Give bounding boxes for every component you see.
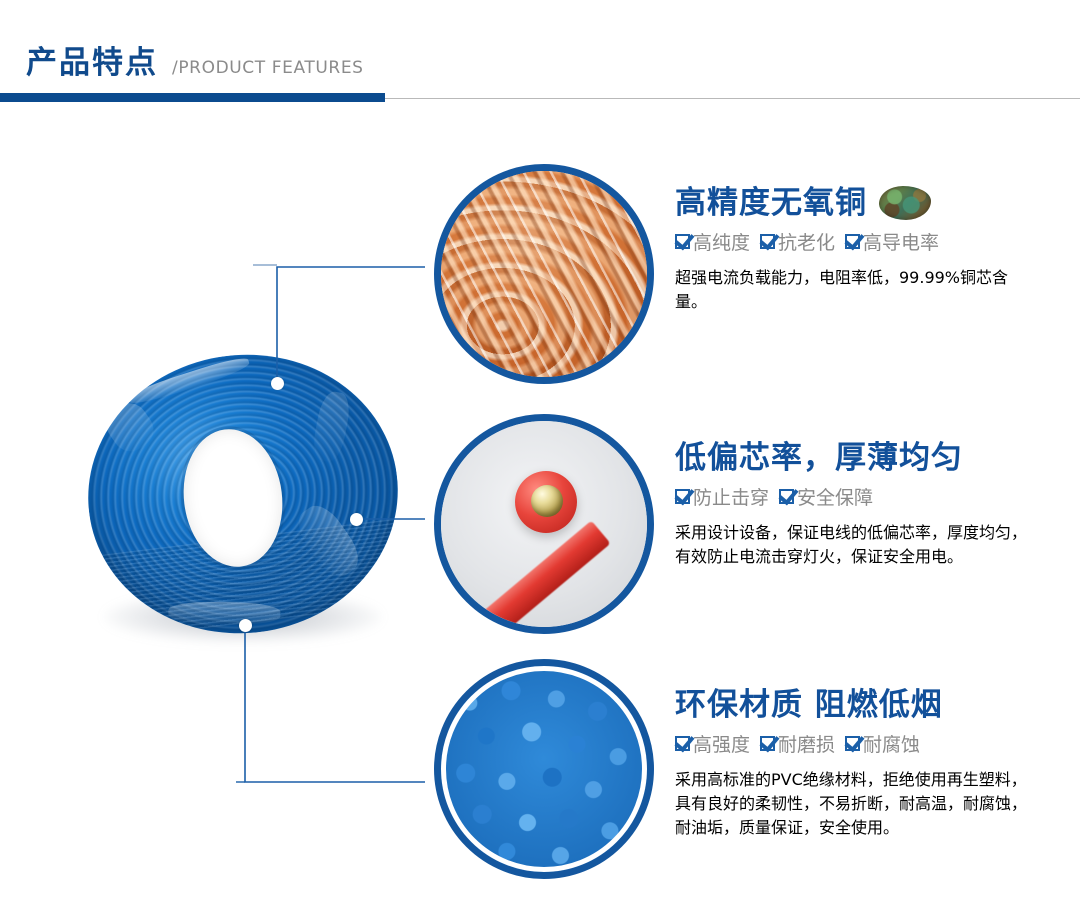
copper-ore-icon bbox=[879, 186, 931, 220]
feature-tag: 高纯度 bbox=[675, 228, 750, 255]
feature-tags-2: 防止击穿 安全保障 bbox=[675, 483, 1035, 510]
feature-tag: 耐磨损 bbox=[760, 730, 835, 757]
red-wire-shaft bbox=[453, 521, 610, 634]
feature-tag-label: 抗老化 bbox=[778, 228, 835, 255]
callout-dot-feature-2 bbox=[350, 513, 363, 526]
callout-dot-feature-1 bbox=[271, 377, 284, 390]
feature-tag: 防止击穿 bbox=[675, 483, 769, 510]
pvc-pellets-photo bbox=[441, 666, 647, 872]
check-icon bbox=[760, 736, 775, 751]
header-title-group: 产品特点 /PRODUCT FEATURES bbox=[26, 48, 364, 79]
feature-tag: 高导电率 bbox=[845, 228, 939, 255]
feature-tag-label: 防止击穿 bbox=[693, 483, 769, 510]
feature-photo-2 bbox=[434, 414, 654, 634]
feature-title-1-label: 高精度无氧铜 bbox=[675, 186, 867, 220]
page-title: 产品特点 bbox=[26, 48, 158, 79]
check-icon bbox=[845, 234, 860, 249]
feature-tag: 抗老化 bbox=[760, 228, 835, 255]
feature-tags-3: 高强度 耐磨损 耐腐蚀 bbox=[675, 730, 1035, 757]
feature-tag-label: 耐腐蚀 bbox=[863, 730, 920, 757]
check-icon bbox=[845, 736, 860, 751]
feature-title-3-label: 环保材质 阻燃低烟 bbox=[675, 688, 943, 722]
copper-wire-photo bbox=[441, 171, 647, 377]
red-wire-photo bbox=[441, 421, 647, 627]
feature-text-3: 环保材质 阻燃低烟 高强度 耐磨损 耐腐蚀 采用高标准的PVC绝缘材料，拒绝使用… bbox=[675, 688, 1035, 854]
check-icon bbox=[779, 489, 794, 504]
copper-core bbox=[531, 485, 563, 517]
callout-dot-feature-3 bbox=[239, 619, 252, 632]
check-icon bbox=[675, 736, 690, 751]
feature-photo-3 bbox=[434, 659, 654, 879]
feature-desc-line: 有效防止电流击穿灯火，保证安全用电。 bbox=[675, 543, 1035, 567]
feature-tag-label: 耐磨损 bbox=[778, 730, 835, 757]
check-icon bbox=[675, 234, 690, 249]
check-icon bbox=[675, 489, 690, 504]
page-subtitle-en: /PRODUCT FEATURES bbox=[172, 60, 364, 77]
feature-desc-line: 超强电流负载能力，电阻率低，99.99%铜芯含量。 bbox=[675, 264, 1035, 312]
check-icon bbox=[760, 234, 775, 249]
feature-tag-label: 高强度 bbox=[693, 730, 750, 757]
feature-photo-1 bbox=[434, 164, 654, 384]
feature-tag: 高强度 bbox=[675, 730, 750, 757]
header-accent-bar bbox=[0, 93, 385, 102]
coil-highlight bbox=[126, 354, 251, 408]
feature-desc-line: 耐油垢，质量保证，安全使用。 bbox=[675, 814, 1035, 838]
page-header: 产品特点 /PRODUCT FEATURES bbox=[0, 0, 1080, 110]
feature-tag-label: 高导电率 bbox=[863, 228, 939, 255]
feature-tags-1: 高纯度 抗老化 高导电率 bbox=[675, 228, 1035, 255]
coil-highlight bbox=[100, 396, 161, 458]
feature-title-2: 低偏芯率，厚薄均匀 bbox=[675, 441, 1035, 475]
feature-title-3: 环保材质 阻燃低烟 bbox=[675, 688, 1035, 722]
feature-tag: 耐腐蚀 bbox=[845, 730, 920, 757]
feature-tag-label: 高纯度 bbox=[693, 228, 750, 255]
feature-title-2-label: 低偏芯率，厚薄均匀 bbox=[675, 441, 963, 475]
feature-desc-line: 采用高标准的PVC绝缘材料，拒绝使用再生塑料， bbox=[675, 766, 1035, 790]
feature-text-2: 低偏芯率，厚薄均匀 防止击穿 安全保障 采用设计设备，保证电线的低偏芯率，厚度均… bbox=[675, 441, 1035, 583]
feature-text-1: 高精度无氧铜 高纯度 抗老化 高导电率 超强电流负载能力，电阻率低，99.99%… bbox=[675, 186, 1035, 328]
feature-tag: 安全保障 bbox=[779, 483, 873, 510]
feature-title-1: 高精度无氧铜 bbox=[675, 186, 1035, 220]
feature-tag-label: 安全保障 bbox=[797, 483, 873, 510]
coil-highlight bbox=[310, 389, 353, 463]
feature-desc-line: 具有良好的柔韧性，不易折断，耐高温，耐腐蚀， bbox=[675, 790, 1035, 814]
feature-desc-line: 采用设计设备，保证电线的低偏芯率，厚度均匀， bbox=[675, 519, 1035, 543]
